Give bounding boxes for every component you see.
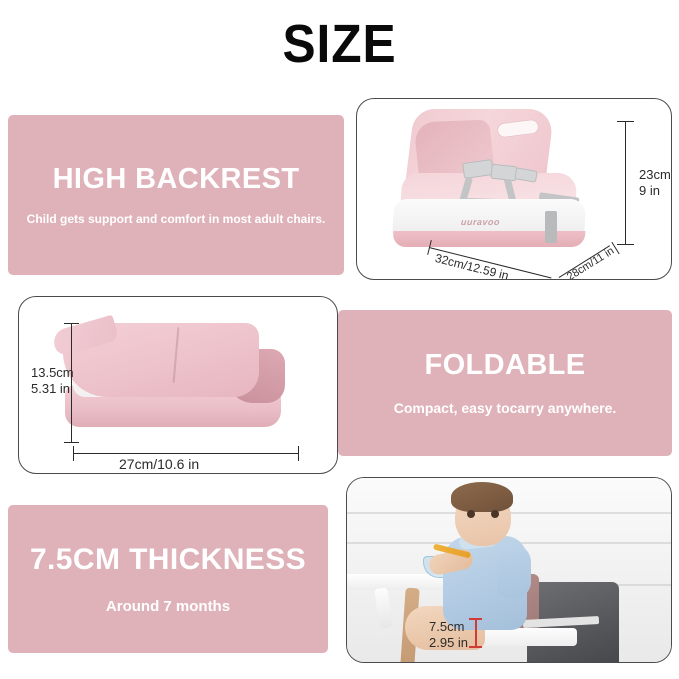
dimension-cap-folded-top	[64, 323, 79, 324]
brand-logo: uuravoo	[461, 217, 501, 227]
lifestyle-child-eye-left	[467, 510, 475, 518]
photo-card-folded-seat: 13.5cm 5.31 in 27cm/10.6 in	[18, 296, 338, 474]
dimension-cap-top	[617, 121, 634, 122]
dimension-cap-folded-bottom	[64, 442, 79, 443]
booster-buckle-center	[490, 164, 517, 182]
panel-high-backrest-subline: Child gets support and comfort in most a…	[27, 212, 326, 226]
panel-foldable-headline: FOLDABLE	[424, 350, 585, 382]
panel-high-backrest: HIGH BACKREST Child gets support and com…	[8, 115, 344, 275]
dimension-folded-height-cm: 13.5cm	[31, 365, 74, 380]
panel-high-backrest-headline: HIGH BACKREST	[53, 164, 300, 196]
dimension-folded-length: 27cm/10.6 in	[119, 456, 199, 473]
panel-foldable: FOLDABLE Compact, easy tocarry anywhere.	[338, 310, 672, 456]
photo-card-booster-seat: uuravoo 23cm 9 in 32cm/12.59 in 28cm/11 …	[356, 98, 672, 280]
booster-anchor-strap	[545, 211, 557, 243]
panel-thickness-subline: Around 7 months	[106, 598, 230, 616]
dimension-thickness-in: 2.95 in	[429, 635, 468, 650]
dimension-height-in: 9 in	[639, 183, 660, 198]
photo-card-lifestyle: 7.5cm 2.95 in	[346, 477, 672, 663]
dimension-line-height	[625, 121, 626, 245]
dimension-folded-height-in: 5.31 in	[31, 381, 70, 396]
lifestyle-child-sleeve	[497, 544, 531, 598]
dimension-thickness-cm: 7.5cm	[429, 619, 464, 634]
lifestyle-child-hair	[451, 482, 513, 512]
dimension-line-folded-length	[73, 453, 299, 454]
panel-thickness: 7.5CM THICKNESS Around 7 months	[8, 505, 328, 653]
lifestyle-image	[347, 478, 671, 662]
panel-foldable-subline: Compact, easy tocarry anywhere.	[394, 400, 617, 417]
page-title: SIZE	[27, 16, 652, 73]
infographic-root: SIZE HIGH BACKREST Child gets support an…	[0, 0, 679, 679]
panel-thickness-headline: 7.5CM THICKNESS	[30, 543, 306, 576]
booster-seat-image: uuravoo	[357, 99, 671, 279]
dimension-cap-thickness-bottom	[469, 646, 482, 648]
dimension-cap-thickness-top	[469, 618, 482, 620]
dimension-cap-length-left	[73, 446, 74, 461]
dimension-height-cm: 23cm	[639, 167, 671, 182]
dimension-cap-length-right	[298, 446, 299, 461]
lifestyle-child-eye-right	[491, 510, 499, 518]
dimension-line-folded-height	[71, 323, 72, 443]
dimension-line-thickness	[475, 618, 477, 648]
dimension-cap-bottom	[617, 244, 634, 245]
